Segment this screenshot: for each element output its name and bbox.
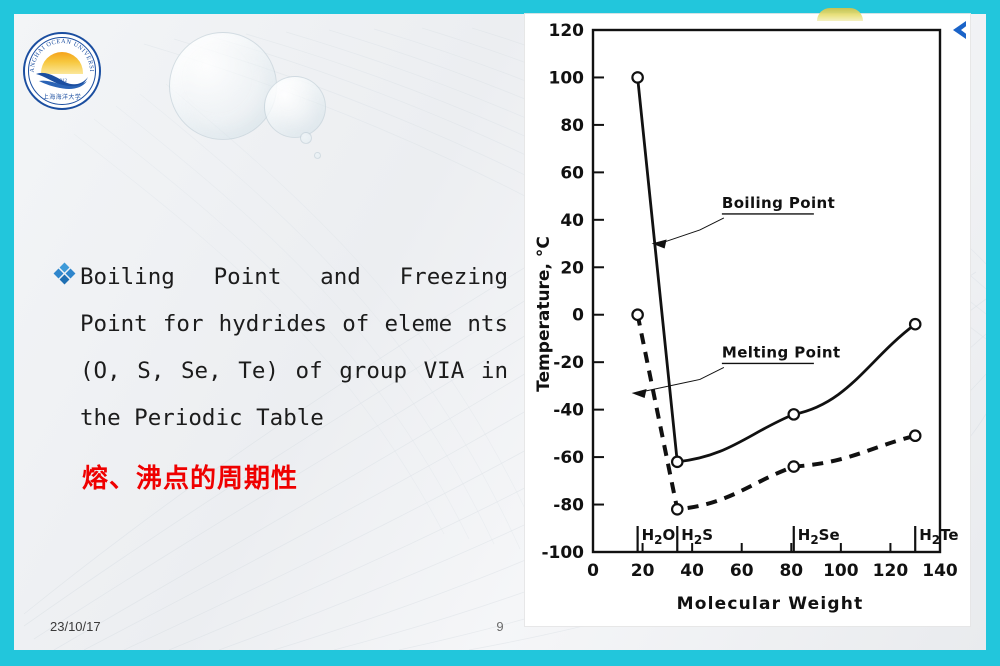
decorative-bubble-tiny <box>314 152 321 159</box>
x-tick-label: 80 <box>779 561 803 581</box>
y-tick-label: 80 <box>560 116 584 136</box>
chart-figure-panel: -100-80-60-40-20020406080100120 02040608… <box>525 14 970 626</box>
data-point-marker <box>632 72 642 82</box>
logo-arc-label: SHANGHAI OCEAN UNIVERSITY <box>23 32 95 73</box>
data-point-marker <box>672 457 682 467</box>
university-logo: SHANGHAI OCEAN UNIVERSITY 1912 上海海洋大学 <box>23 32 101 110</box>
bullet-paragraph: Boiling Point and Freezing Point for hyd… <box>54 254 509 442</box>
data-point-marker <box>910 431 920 441</box>
temperature-vs-molecular-weight-chart: -100-80-60-40-20020406080100120 02040608… <box>525 14 970 626</box>
svg-text:SHANGHAI OCEAN UNIVERSITY: SHANGHAI OCEAN UNIVERSITY <box>23 32 95 73</box>
x-tick-label: 140 <box>922 561 958 581</box>
chinese-subtitle: 熔、沸点的周期性 <box>82 458 509 495</box>
y-tick-label: 0 <box>572 306 584 326</box>
annotation-boiling-point: Boiling Point <box>722 194 835 212</box>
y-tick-label: 100 <box>549 68 585 88</box>
y-tick-label: -80 <box>553 496 584 516</box>
x-tick-label: 60 <box>730 561 754 581</box>
y-tick-label: 20 <box>560 258 584 278</box>
logo-chinese-name: 上海海洋大学 <box>23 92 101 101</box>
y-tick-label: 40 <box>560 211 584 231</box>
content-block: Boiling Point and Freezing Point for hyd… <box>54 254 509 495</box>
y-tick-label: -60 <box>553 448 584 468</box>
annotation-melting-point: Melting Point <box>722 343 841 361</box>
x-tick-label: 20 <box>631 561 655 581</box>
x-tick-label: 40 <box>680 561 704 581</box>
data-point-marker <box>789 461 799 471</box>
y-tick-label: 120 <box>549 21 585 41</box>
y-tick-label: -40 <box>553 401 584 421</box>
logo-year: 1912 <box>23 79 101 84</box>
diamond-bullet-icon <box>54 263 76 285</box>
species-label: H2Se <box>798 526 840 547</box>
yellow-blob-decoration <box>817 8 863 21</box>
x-tick-label: 0 <box>587 561 599 581</box>
y-tick-label: 60 <box>560 163 584 183</box>
x-tick-label: 100 <box>823 561 859 581</box>
y-tick-label: -20 <box>553 353 584 373</box>
data-point-marker <box>632 310 642 320</box>
decorative-bubble-small <box>300 132 312 144</box>
data-point-marker <box>672 504 682 514</box>
data-point-marker <box>789 409 799 419</box>
decorative-bubble-large <box>169 32 277 140</box>
decorative-bubble-medium <box>264 76 326 138</box>
x-tick-label: 120 <box>873 561 909 581</box>
english-body-text: Boiling Point and Freezing Point for hyd… <box>80 254 508 442</box>
y-tick-label: -100 <box>541 543 584 563</box>
slide: SHANGHAI OCEAN UNIVERSITY 1912 上海海洋大学 Bo… <box>0 0 1000 666</box>
data-point-marker <box>910 319 920 329</box>
y-axis-title: Temperature, °C <box>534 236 554 392</box>
x-axis-title: Molecular Weight <box>677 594 864 614</box>
blue-arrow-notch <box>961 24 969 36</box>
